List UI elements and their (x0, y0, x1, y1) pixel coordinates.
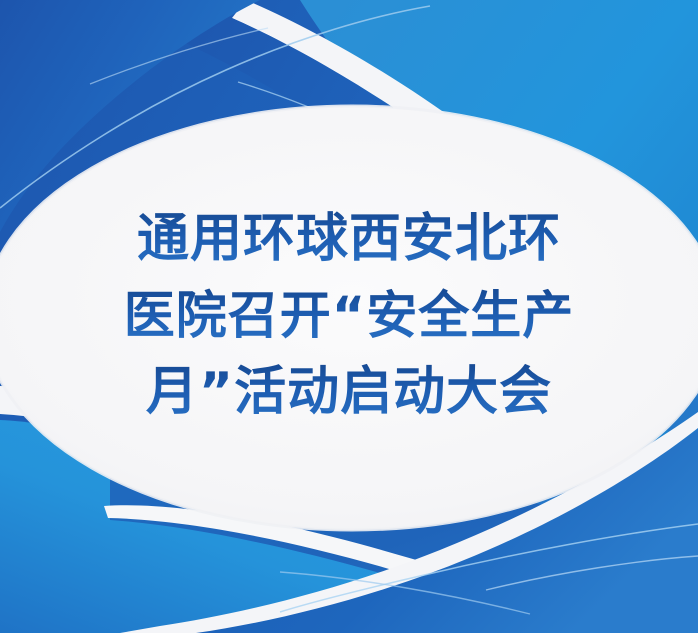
banner-poster: 通用环球西安北环 医院召开“安全生产 月”活动启动大会 (0, 0, 698, 633)
center-white-ellipse (0, 106, 698, 530)
background-graphic (0, 0, 698, 633)
